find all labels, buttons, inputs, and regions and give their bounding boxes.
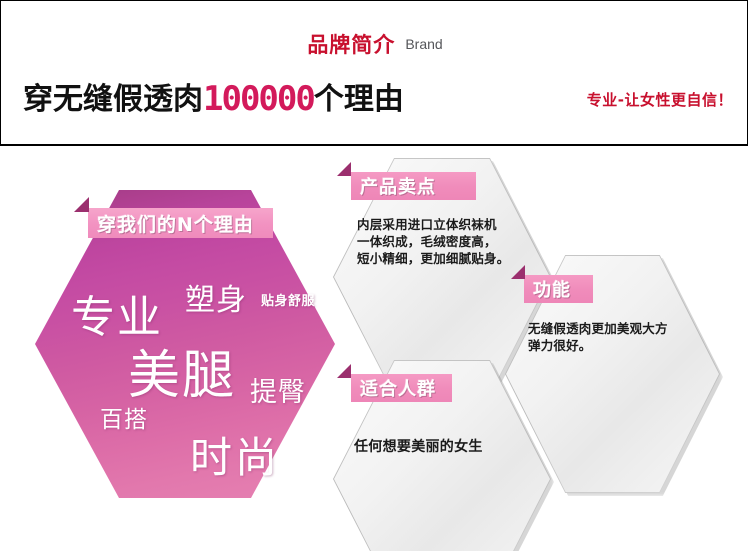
reasons-badge-label: 穿我们的N个理由 [97,210,254,237]
header-slogan: 专业-让女性更自信！ [587,89,733,110]
reasons-badge: 穿我们的N个理由 [88,208,273,238]
headline-prefix: 穿无缝假透肉 [23,82,203,117]
headline-suffix: 个理由 [314,82,404,117]
selling-points-body: 内层采用进口立体织袜机 一体织成，毛绒密度高， 短小精细，更加细腻贴身。 [357,216,537,267]
page-title: 穿无缝假透肉100000个理由 [23,74,404,118]
word-cloud-item-4: 美腿 [128,333,236,408]
word-cloud-item-3: 贴身舒服 [261,290,315,309]
selling-points-badge: 产品卖点 [351,172,476,200]
header-section: 品牌简介Brand 穿无缝假透肉100000个理由 专业-让女性更自信！ [0,0,748,146]
audience-body: 任何想要美丽的女生 [354,438,544,457]
word-cloud-item-6: 百搭 [100,400,148,434]
brand-title-en: Brand [405,36,442,52]
ribbon-fold-icon [337,364,351,378]
selling-points-badge-label: 产品卖点 [360,173,436,199]
audience-badge-label: 适合人群 [360,375,436,401]
promo-banner: 品牌简介Brand 穿无缝假透肉100000个理由 专业-让女性更自信！ 内层采… [0,0,750,551]
audience-badge: 适合人群 [351,374,452,402]
headline-number: 100000 [203,79,314,119]
brand-title: 品牌简介Brand [1,29,749,59]
brand-title-cn: 品牌简介 [307,33,395,57]
word-cloud-item-2: 塑身 [185,275,247,319]
function-badge-label: 功能 [533,276,571,302]
ribbon-fold-icon [337,162,351,176]
ribbon-fold-icon [74,197,89,212]
word-cloud-item-7: 时尚 [190,424,280,485]
function-badge: 功能 [524,275,593,303]
word-cloud-item-5: 提臀 [250,370,306,409]
function-body: 无缝假透肉更加美观大方 弹力很好。 [528,320,713,354]
